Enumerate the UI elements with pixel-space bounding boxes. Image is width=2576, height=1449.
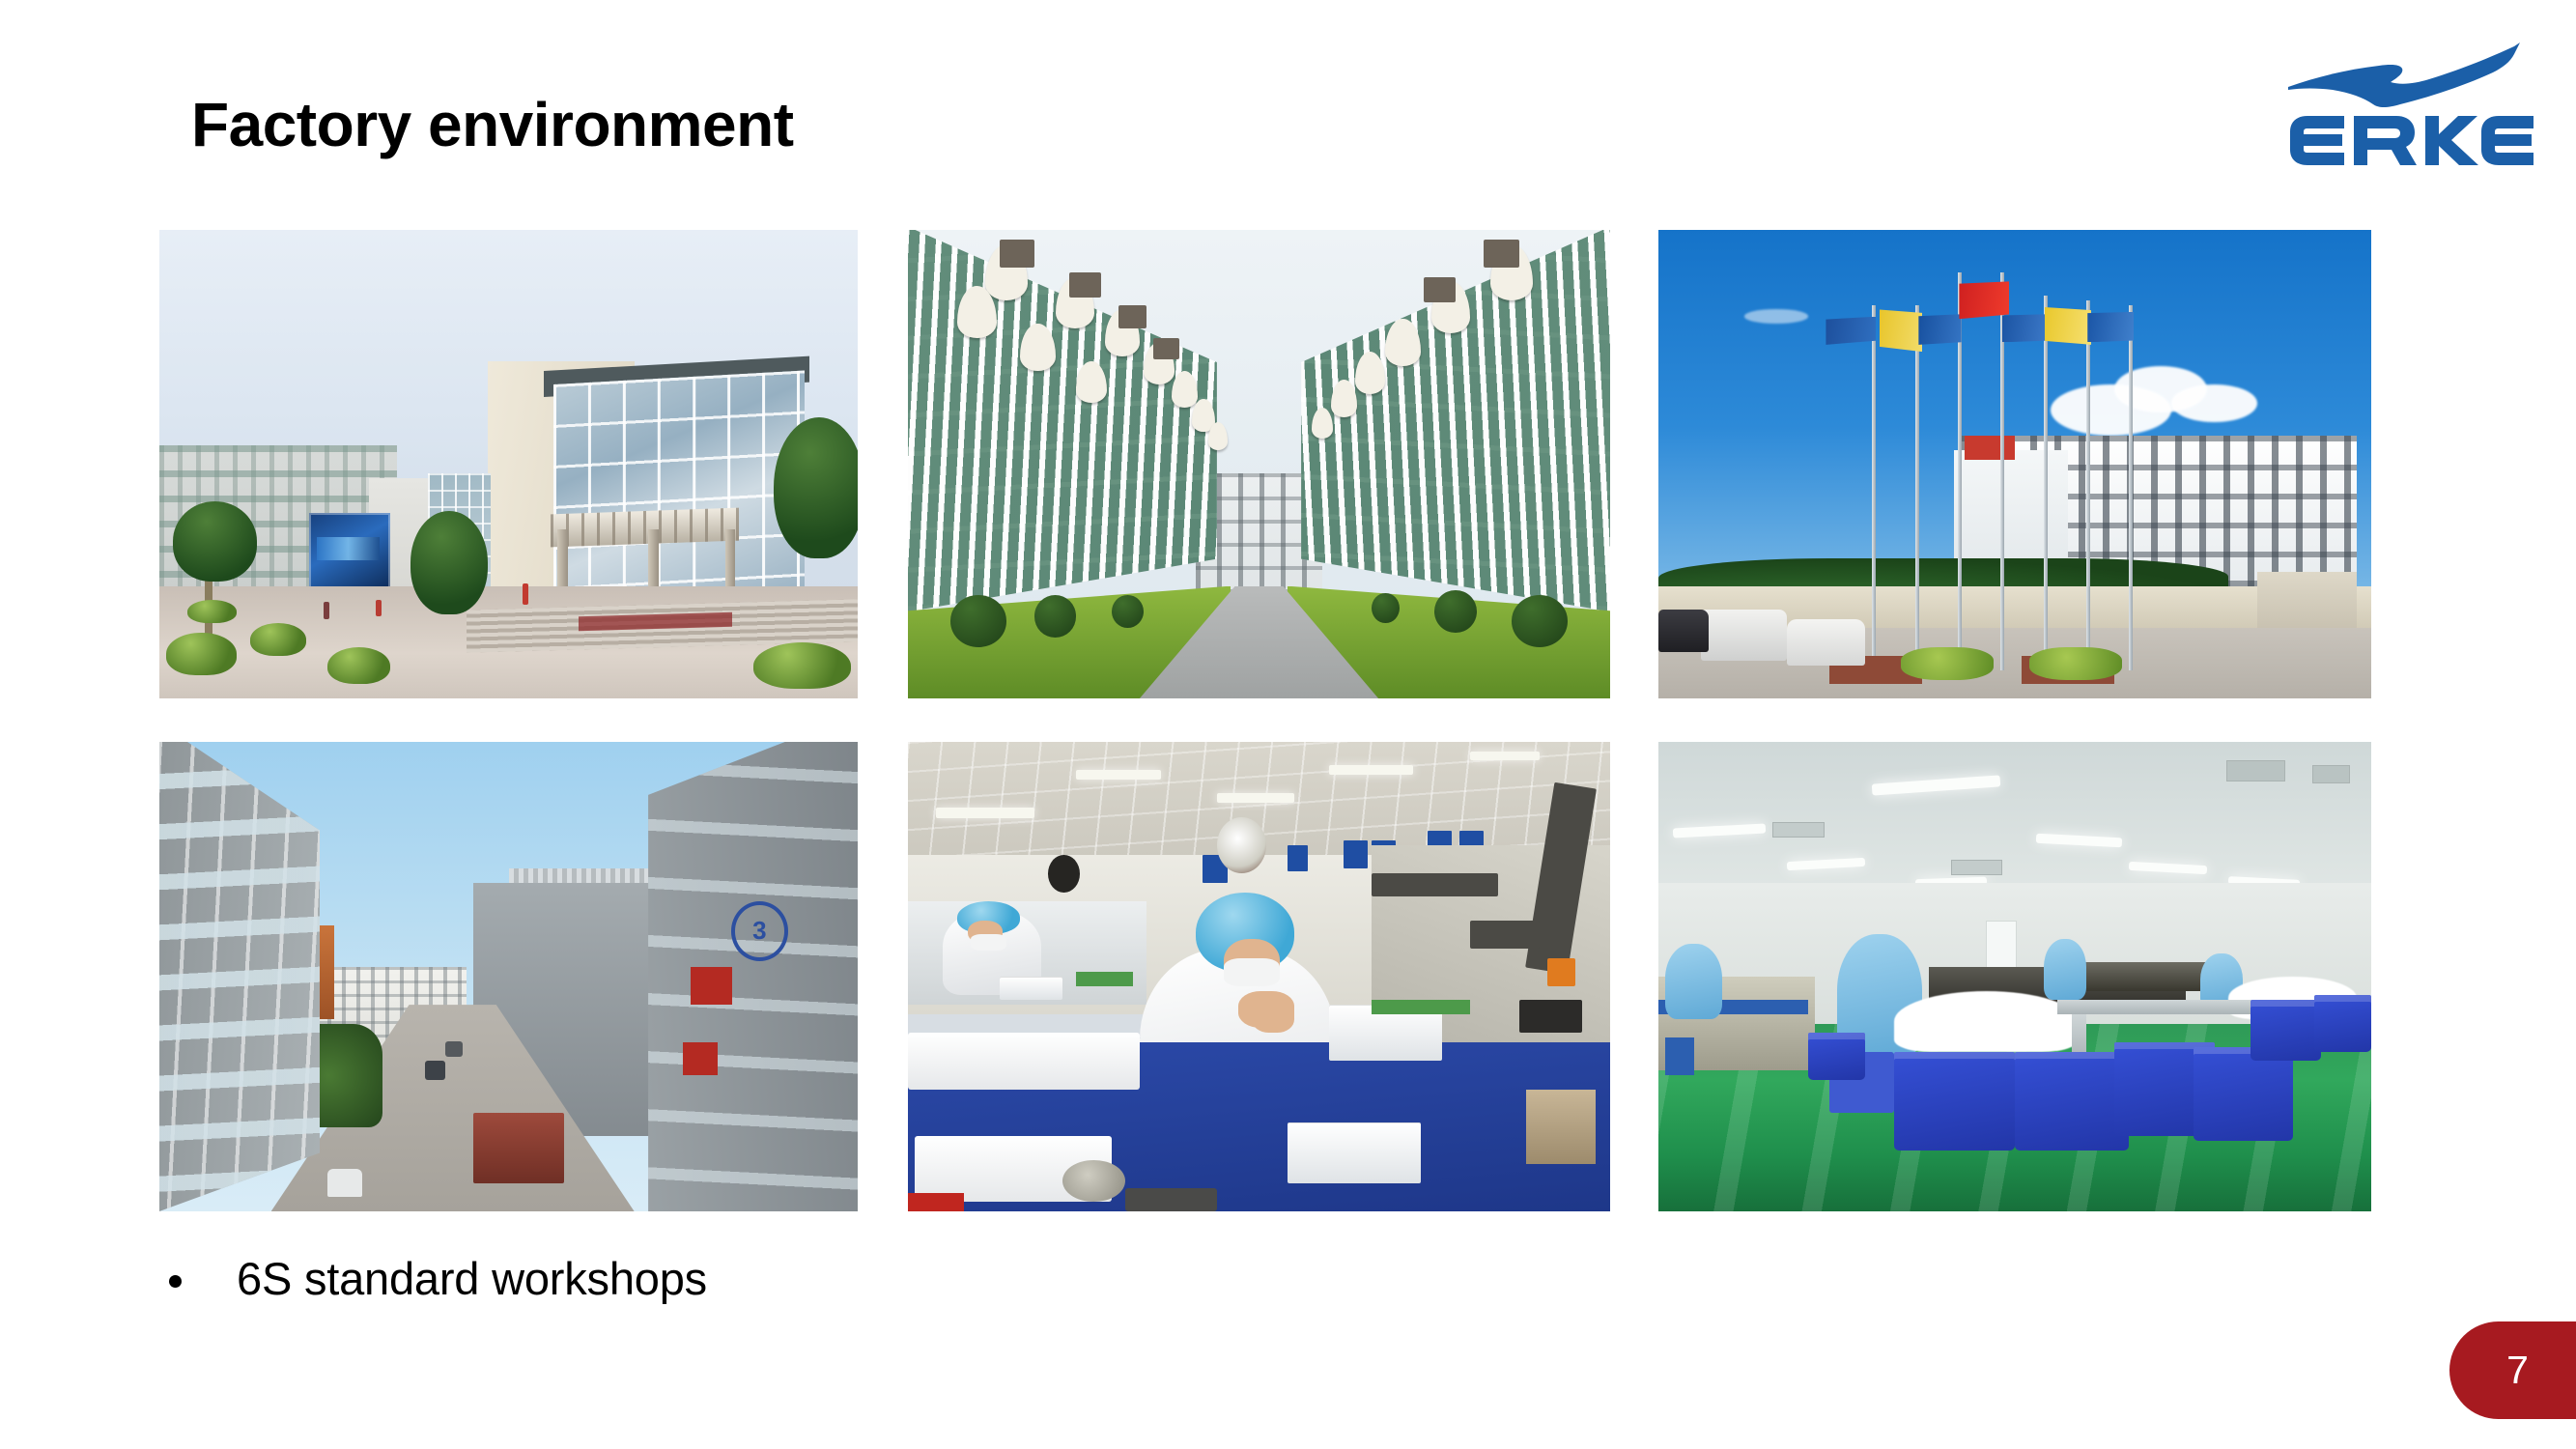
photo-factory-entrance-building [159, 230, 858, 698]
erke-wordmark [2288, 114, 2535, 168]
erke-logo [2286, 37, 2535, 172]
swoosh-bird-icon [2286, 37, 2535, 112]
photo-factory-buildings-corridor [908, 230, 1610, 698]
bullet-list: 6S standard workshops [169, 1252, 707, 1305]
photo-gallery: 3 [159, 230, 2371, 1211]
slide-canvas: Factory environment [0, 0, 2576, 1449]
photo-flagpoles-entrance [1658, 230, 2371, 698]
photo-cleanroom-packing-station [908, 742, 1610, 1211]
building-number-badge: 3 [731, 901, 788, 960]
photo-factory-alley-aerial: 3 [159, 742, 858, 1211]
page-number-badge: 7 [2449, 1321, 2576, 1419]
photo-cleanroom-production-hall [1658, 742, 2371, 1211]
page-title: Factory environment [191, 93, 794, 157]
bullet-dot-icon [169, 1275, 182, 1288]
bullet-item-label: 6S standard workshops [237, 1252, 707, 1305]
